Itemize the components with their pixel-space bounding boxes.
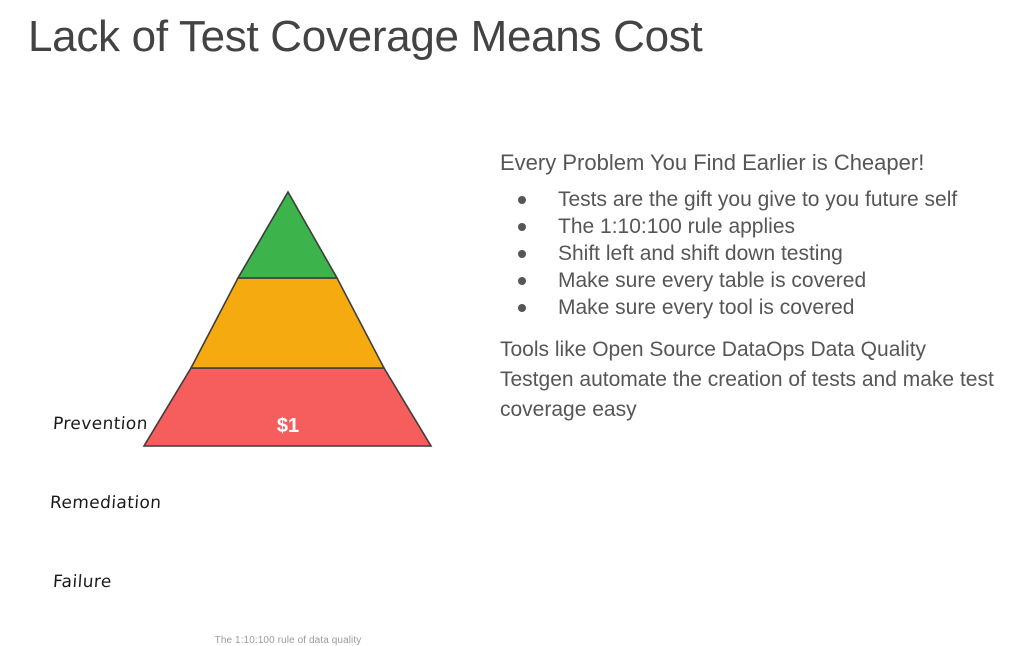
pyramid-label-prevention: Prevention bbox=[52, 414, 148, 434]
list-item-label: Shift left and shift down testing bbox=[558, 242, 843, 265]
bullet-dot-icon bbox=[518, 277, 526, 285]
pyramid-tier-remediation bbox=[191, 278, 384, 368]
pyramid-tier-prevention bbox=[238, 192, 337, 278]
content-column: Every Problem You Find Earlier is Cheape… bbox=[500, 148, 1000, 425]
pyramid-label-failure: Failure bbox=[52, 572, 112, 592]
benefits-list: Tests are the gift you give to you futur… bbox=[500, 186, 1000, 321]
pyramid-value-remediation: $10 bbox=[253, 491, 323, 518]
bullet-dot-icon bbox=[518, 250, 526, 258]
bullet-dot-icon bbox=[518, 304, 526, 312]
list-item: Tests are the gift you give to you futur… bbox=[500, 186, 1000, 213]
pyramid-value-prevention: $1 bbox=[258, 415, 318, 438]
lead-statement: Every Problem You Find Earlier is Cheape… bbox=[500, 148, 1000, 178]
pyramid-value-failure: $100 bbox=[243, 572, 333, 601]
list-item: Shift left and shift down testing bbox=[500, 240, 1000, 267]
bullet-dot-icon bbox=[518, 196, 526, 204]
pyramid-label-remediation: Remediation bbox=[49, 493, 162, 513]
list-item-label: The 1:10:100 rule applies bbox=[558, 215, 795, 238]
pyramid-diagram: Prevention Remediation Failure $1 $10 $1… bbox=[0, 180, 470, 480]
bullet-dot-icon bbox=[518, 223, 526, 231]
pyramid-caption: The 1:10:100 rule of data quality bbox=[144, 635, 432, 646]
list-item: Make sure every tool is covered bbox=[500, 294, 1000, 321]
list-item-label: Tests are the gift you give to you futur… bbox=[558, 188, 957, 211]
pyramid-shape bbox=[0, 180, 470, 480]
list-item: Make sure every table is covered bbox=[500, 267, 1000, 294]
closing-paragraph: Tools like Open Source DataOps Data Qual… bbox=[500, 335, 1000, 425]
list-item: The 1:10:100 rule applies bbox=[500, 213, 1000, 240]
list-item-label: Make sure every table is covered bbox=[558, 269, 866, 292]
page-title: Lack of Test Coverage Means Cost bbox=[28, 8, 702, 66]
list-item-label: Make sure every tool is covered bbox=[558, 296, 854, 319]
